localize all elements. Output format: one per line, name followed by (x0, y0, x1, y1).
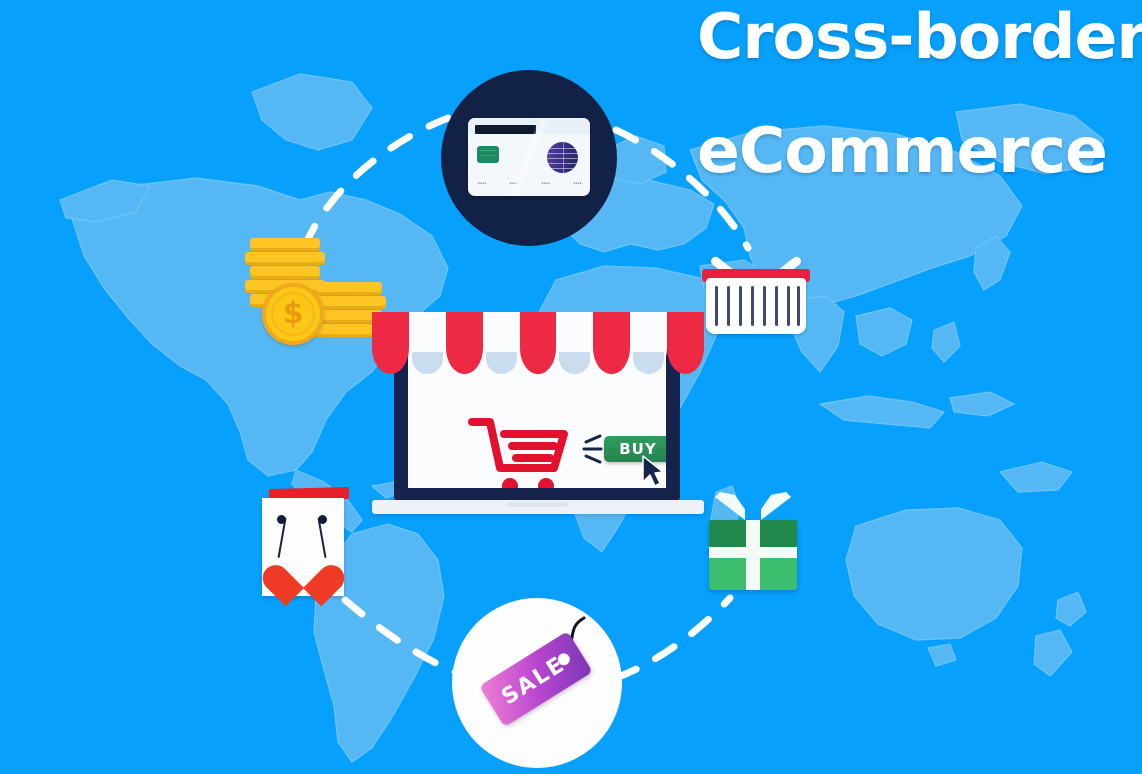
awning-stripe (409, 312, 446, 374)
gift-box-body (709, 520, 797, 590)
click-rays-left (580, 432, 604, 466)
gift-box-icon[interactable] (705, 492, 801, 594)
bag-eyelet-right (318, 515, 327, 524)
shopping-bag-icon[interactable] (262, 486, 348, 598)
store-awning (372, 312, 704, 384)
bag-body (262, 498, 344, 596)
awning-stripe (556, 312, 593, 374)
bag-eyelet-left (277, 515, 286, 524)
shopping-cart-icon (468, 416, 572, 488)
page-title-line-1: Cross-border (697, 8, 1142, 67)
awning-stripe (520, 312, 557, 374)
dollar-coin-icon: $ (262, 283, 324, 345)
awning-stripe (667, 312, 704, 374)
arc-sale-to-gift (616, 598, 730, 678)
awning-stripe (630, 312, 667, 374)
mouse-cursor-icon (640, 454, 666, 488)
gift-bow-left (715, 492, 745, 520)
sale-tag-badge[interactable]: SALE (452, 598, 622, 768)
basket-body (706, 278, 806, 334)
awning-stripe (446, 312, 483, 374)
gift-bow-right (761, 492, 791, 520)
laptop-trackpad-notch (507, 502, 569, 507)
gift-ribbon-horizontal (709, 547, 797, 558)
page-title-line-2: eCommerce (697, 122, 1107, 181)
credit-card-badge[interactable]: •••• •••• •••• •••• (441, 70, 617, 246)
credit-card-icon: •••• •••• •••• •••• (468, 118, 590, 196)
gold-coins-icon[interactable]: $ (240, 238, 385, 348)
dollar-symbol: $ (283, 299, 304, 329)
heart-icon (278, 548, 328, 593)
awning-stripe (483, 312, 520, 374)
arc-coins-to-card (305, 118, 448, 246)
awning-stripe (593, 312, 630, 374)
infographic-canvas: Cross-border eCommerce •••• •••• •••• ••… (0, 0, 1142, 774)
awning-stripe (372, 312, 409, 374)
laptop-online-store[interactable]: BUY (372, 312, 704, 522)
shopping-basket-icon[interactable] (700, 240, 812, 345)
card-gloss-highlight (468, 118, 590, 196)
